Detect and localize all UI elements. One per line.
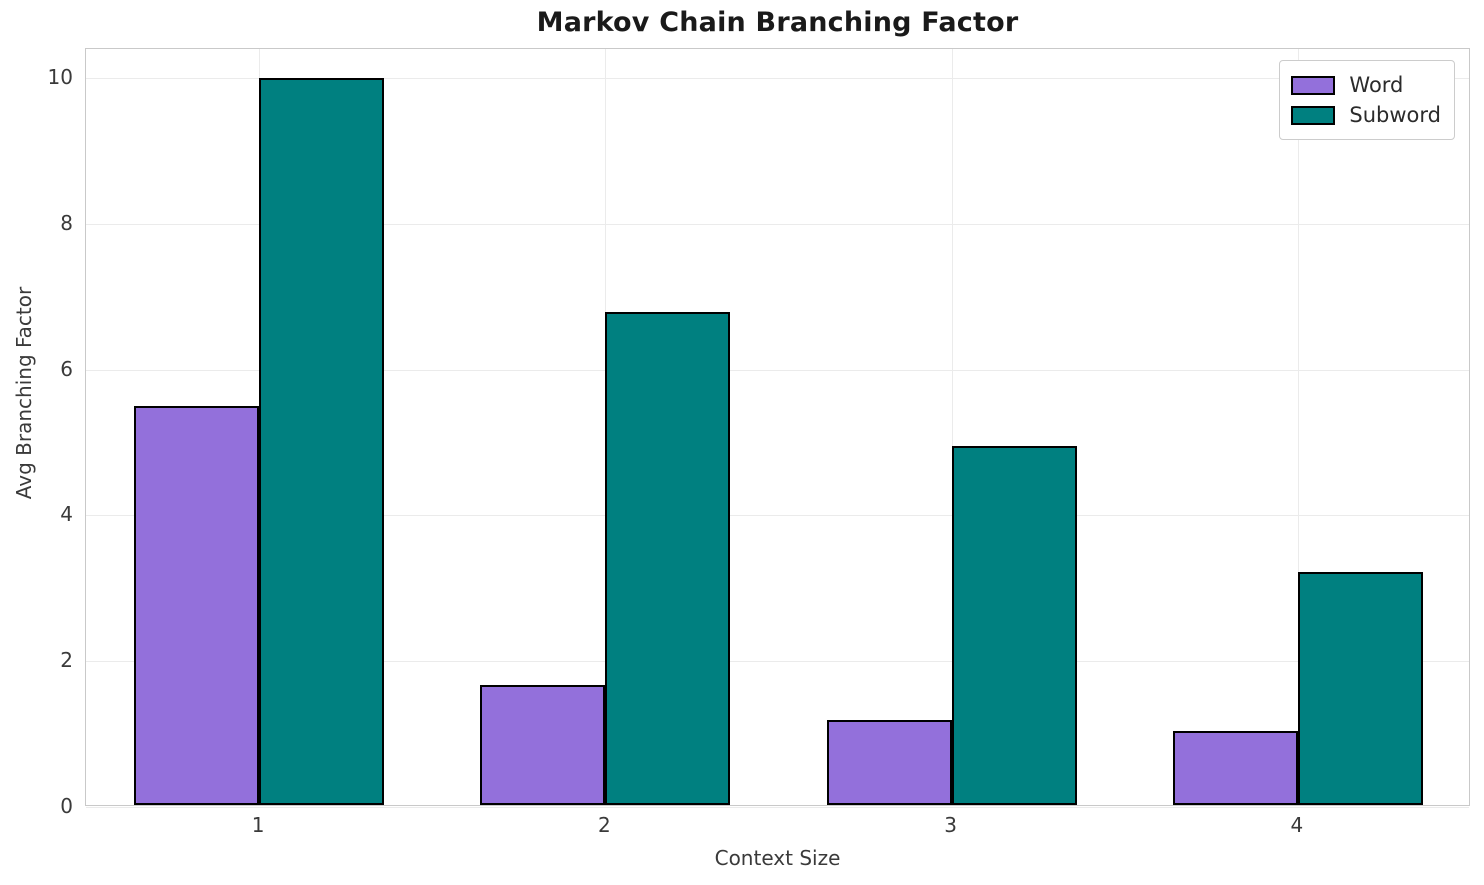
bar-subword-3[interactable] bbox=[952, 446, 1077, 805]
y-axis-label: Avg Branching Factor bbox=[13, 133, 35, 653]
chart-figure: Markov Chain Branching Factor 0246810 Av… bbox=[0, 0, 1484, 885]
bar-word-2[interactable] bbox=[480, 685, 605, 805]
legend-item-word[interactable]: Word bbox=[1291, 70, 1441, 100]
bar-word-4[interactable] bbox=[1173, 731, 1298, 805]
legend-item-subword[interactable]: Subword bbox=[1291, 100, 1441, 130]
x-axis-label: Context Size bbox=[85, 846, 1470, 870]
legend-label: Subword bbox=[1349, 105, 1441, 126]
bar-subword-4[interactable] bbox=[1298, 572, 1423, 805]
legend-swatch-icon bbox=[1291, 76, 1335, 95]
x-axis-ticks: 1234 bbox=[85, 812, 1470, 844]
y-tick-label: 2 bbox=[9, 650, 73, 670]
gridline-horizontal bbox=[86, 807, 1469, 808]
y-axis-ticks: 0246810 bbox=[0, 48, 73, 806]
y-tick-label: 0 bbox=[9, 796, 73, 816]
bar-word-3[interactable] bbox=[827, 720, 952, 805]
bar-word-1[interactable] bbox=[134, 406, 259, 805]
bars-layer bbox=[86, 49, 1469, 805]
x-tick-label: 1 bbox=[198, 812, 318, 838]
bar-subword-1[interactable] bbox=[259, 78, 384, 805]
legend-label: Word bbox=[1349, 75, 1403, 96]
x-tick-label: 2 bbox=[544, 812, 664, 838]
legend-swatch-icon bbox=[1291, 106, 1335, 125]
bar-subword-2[interactable] bbox=[605, 312, 730, 805]
x-tick-label: 3 bbox=[891, 812, 1011, 838]
chart-title: Markov Chain Branching Factor bbox=[85, 6, 1470, 40]
x-tick-label: 4 bbox=[1237, 812, 1357, 838]
y-tick-label: 10 bbox=[9, 67, 73, 87]
chart-legend[interactable]: WordSubword bbox=[1279, 60, 1455, 140]
plot-area: WordSubword bbox=[85, 48, 1470, 806]
